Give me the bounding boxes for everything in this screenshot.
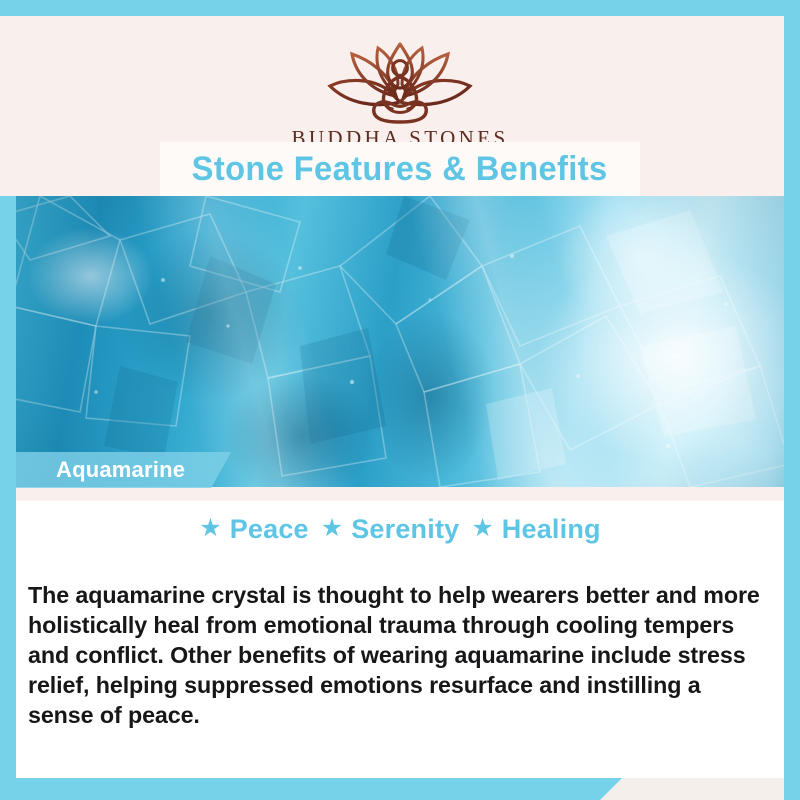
keyword-serenity: Serenity (351, 514, 459, 545)
frame-border-left (0, 196, 16, 800)
keyword-list: ★Peace★Serenity★Healing (0, 514, 800, 545)
frame-border-right (784, 0, 800, 800)
stone-photo-vignette (0, 196, 800, 487)
keyword-healing: Healing (502, 514, 601, 545)
stone-name-tag: Aquamarine (16, 452, 231, 488)
frame-border-top (0, 0, 800, 16)
infographic-poster: BUDDHA STONES Stone Features & Benefits (0, 0, 800, 800)
star-icon: ★ (471, 516, 493, 541)
body-description: The aquamarine crystal is thought to hel… (28, 580, 763, 730)
bottom-accent-band (0, 778, 622, 800)
content-section: ★Peace★Serenity★Healing The aquamarine c… (0, 501, 800, 778)
stone-name-label: Aquamarine (56, 457, 185, 483)
page-title: Stone Features & Benefits (192, 150, 608, 189)
star-icon: ★ (199, 516, 221, 541)
section-divider (0, 487, 800, 501)
page-title-band: Stone Features & Benefits (160, 142, 640, 196)
star-icon: ★ (321, 516, 343, 541)
lotus-meditation-logo-icon (312, 38, 488, 124)
keyword-peace: Peace (230, 514, 309, 545)
header-section: BUDDHA STONES (0, 16, 800, 142)
brand-logo: BUDDHA STONES (0, 38, 800, 151)
stone-photo (0, 196, 800, 487)
